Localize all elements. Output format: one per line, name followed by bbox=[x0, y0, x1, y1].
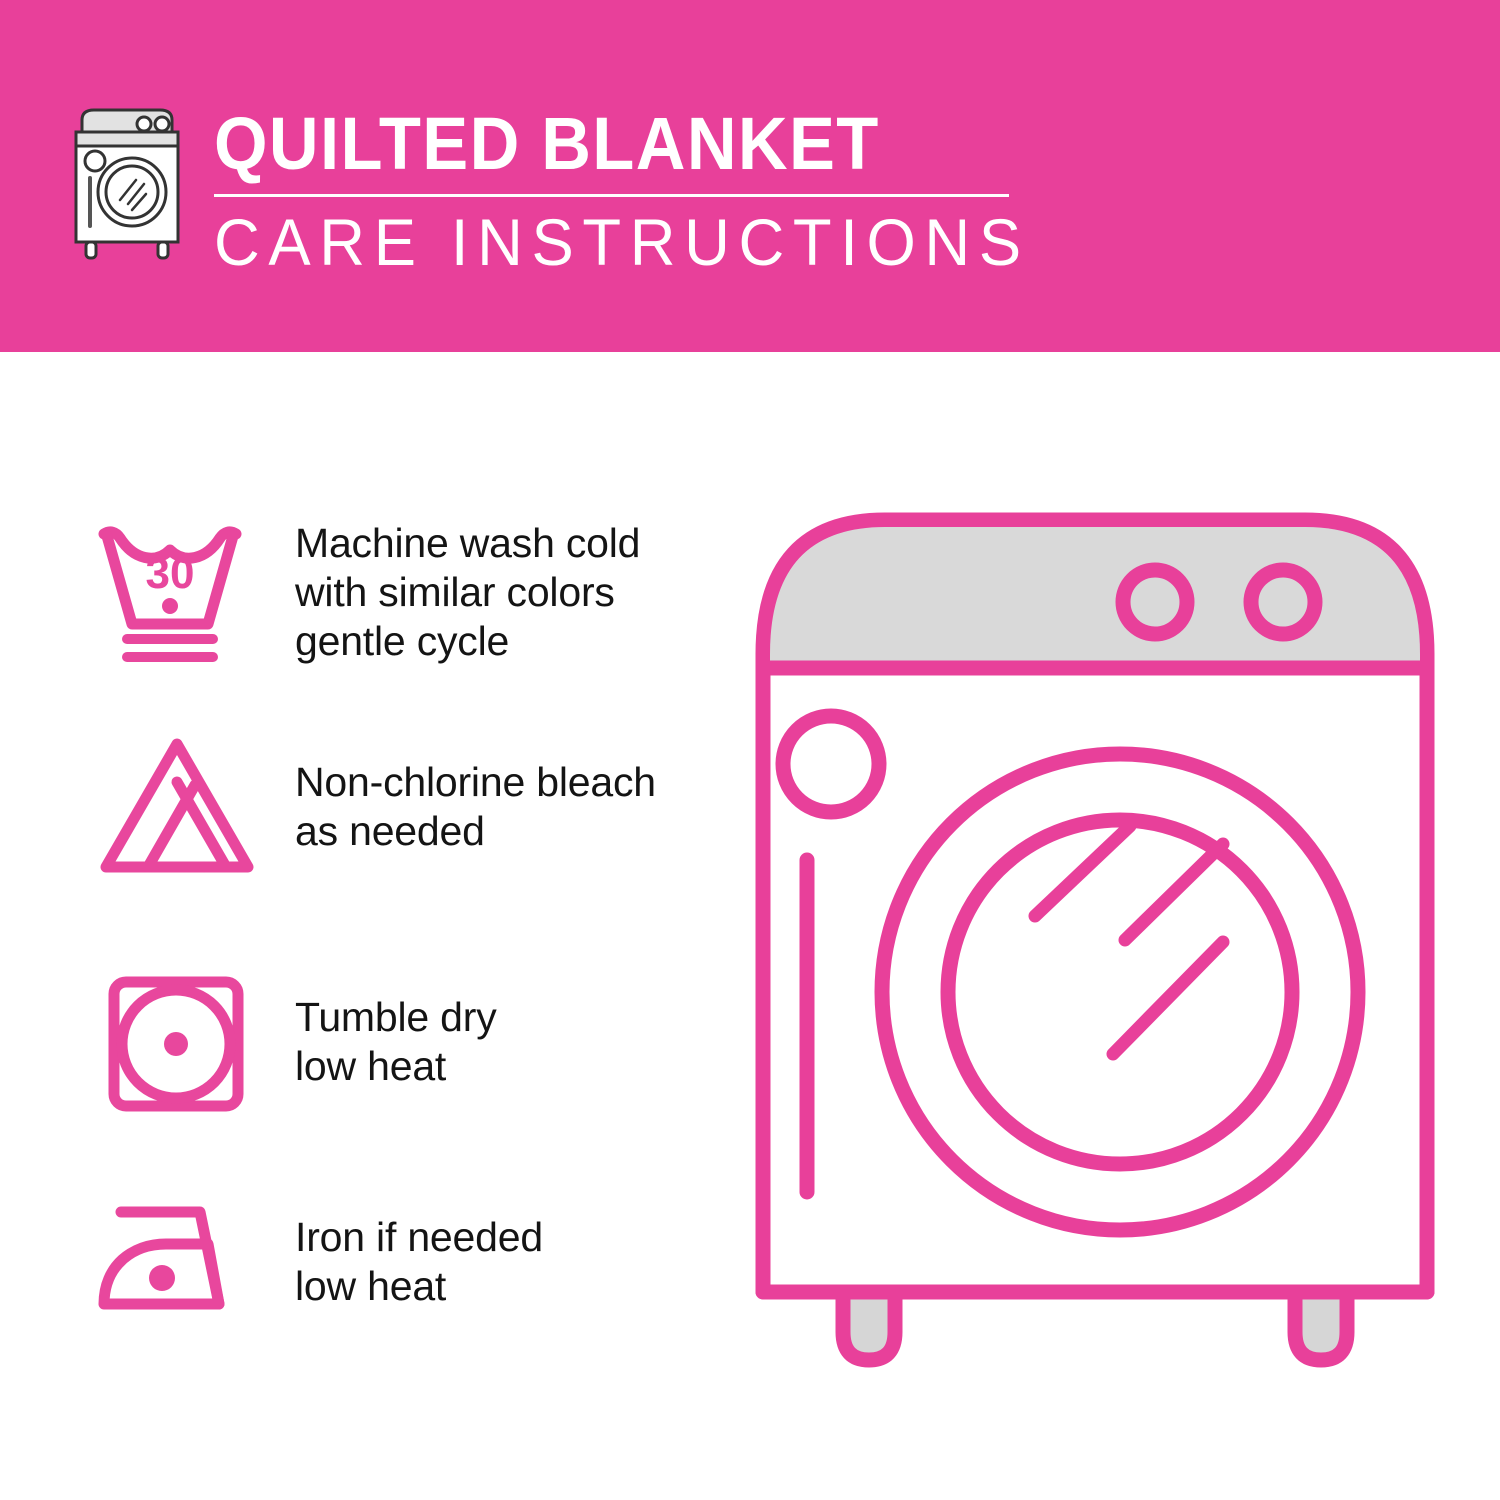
title-divider bbox=[214, 194, 1009, 197]
header-text-block: QUILTED BLANKET CARE INSTRUCTIONS bbox=[214, 104, 1214, 279]
content-area: 30 Machine wash cold with similar colors… bbox=[0, 352, 1500, 1500]
list-item: 30 Machine wash cold with similar colors… bbox=[60, 502, 720, 682]
non-chlorine-bleach-triangle-icon bbox=[60, 730, 295, 885]
tumble-dry-low-icon bbox=[60, 965, 295, 1120]
page-subtitle: CARE INSTRUCTIONS bbox=[214, 205, 1174, 279]
washing-machine-icon bbox=[62, 104, 192, 264]
page-title: QUILTED BLANKET bbox=[214, 104, 1144, 184]
leg-right bbox=[1295, 1292, 1347, 1360]
care-instructions-page: QUILTED BLANKET CARE INSTRUCTIONS 30 bbox=[0, 0, 1500, 1500]
list-item: Non-chlorine bleach as needed bbox=[60, 717, 720, 897]
iron-low-heat-icon bbox=[60, 1192, 295, 1332]
list-item-label: Tumble dry low heat bbox=[295, 993, 720, 1091]
header-banner: QUILTED BLANKET CARE INSTRUCTIONS bbox=[0, 0, 1500, 352]
list-item-label: Machine wash cold with similar colors ge… bbox=[295, 519, 720, 666]
list-item-label: Non-chlorine bleach as needed bbox=[295, 758, 720, 856]
wash-tub-30-gentle-icon: 30 bbox=[60, 512, 295, 672]
list-item-label: Iron if needed low heat bbox=[295, 1213, 720, 1311]
list-item: Iron if needed low heat bbox=[60, 1172, 720, 1352]
front-load-washing-machine-illustration bbox=[735, 492, 1455, 1412]
leg-left bbox=[843, 1292, 895, 1360]
wash-temperature-value: 30 bbox=[146, 549, 195, 598]
list-item: Tumble dry low heat bbox=[60, 952, 720, 1132]
